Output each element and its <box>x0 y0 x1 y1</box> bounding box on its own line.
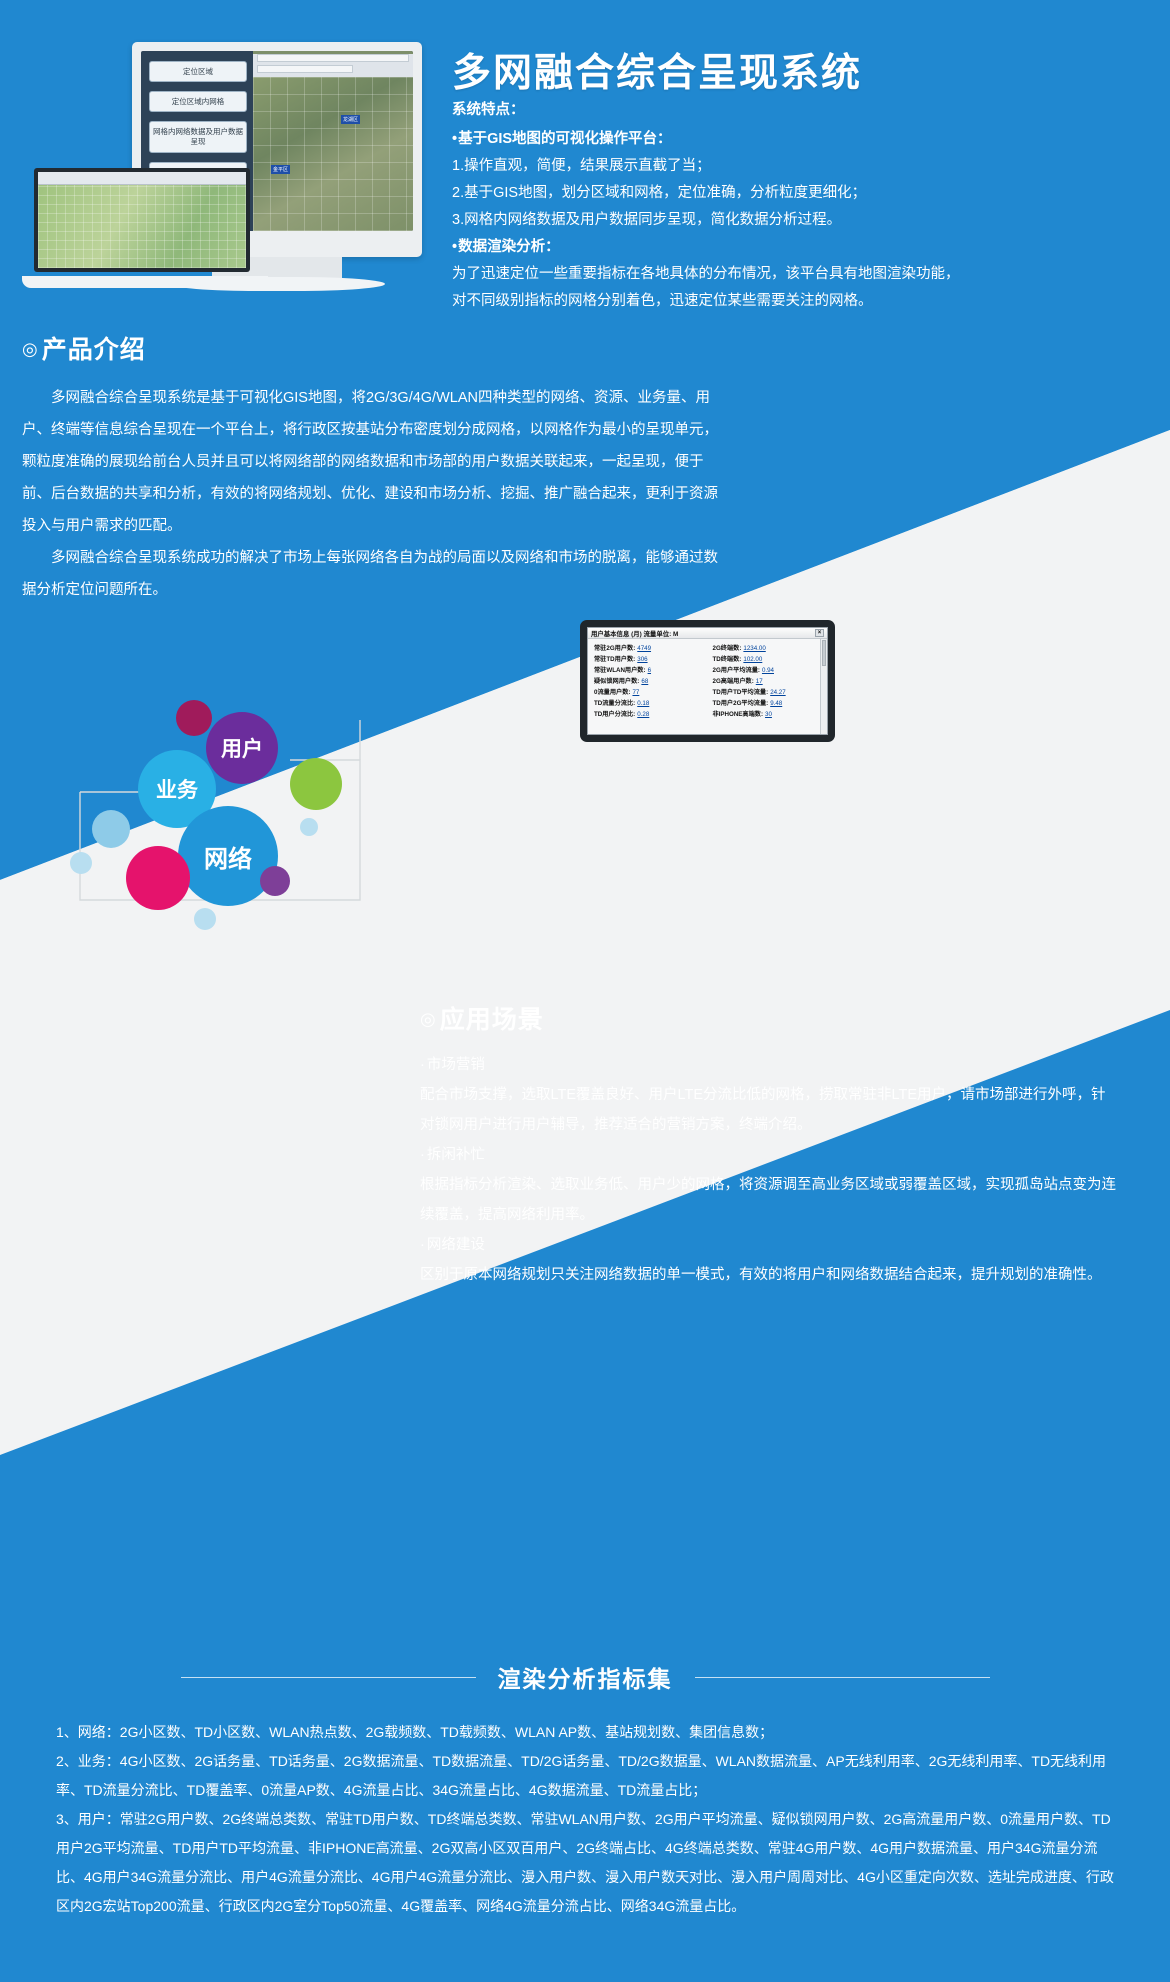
flow-step: 定位区域内网格 <box>149 91 247 112</box>
field-label: 疑似锁网用户数: <box>594 676 639 685</box>
divider-left <box>181 1677 476 1678</box>
field-label: 常驻WLAN用户数: <box>594 665 646 674</box>
accent-dot <box>260 866 290 896</box>
accent-dot <box>176 700 212 736</box>
index-set-section: 渲染分析指标集 1、网络：2G小区数、TD小区数、WLAN热点数、2G载频数、T… <box>0 1660 1170 1921</box>
field-value[interactable]: 0.94 <box>762 667 774 674</box>
gis-map-preview: 龙湖区 金平区 <box>253 51 413 231</box>
scene-item-text: 根据指标分析渲染、选取业务低、用户少的网格，将资源调至高业务区域或弱覆盖区域，实… <box>420 1170 1120 1230</box>
bubble-label: 用户 <box>221 733 263 763</box>
dialog-field: 常驻TD用户数:306 <box>594 654 703 663</box>
map-label: 金平区 <box>271 165 290 174</box>
dialog-title: 用户基本信息 (月) 流量单位: M <box>591 629 678 638</box>
bubble-label: 业务 <box>156 774 198 804</box>
hero-feature-list: 基于GIS地图的可视化操作平台： 1.操作直观，简便，结果展示直截了当； 2.基… <box>452 126 1152 315</box>
accent-dot <box>92 810 130 848</box>
feature-line: 1.操作直观，简便，结果展示直截了当； <box>452 153 1152 180</box>
accent-dot <box>290 758 342 810</box>
dialog-titlebar: 用户基本信息 (月) 流量单位: M × <box>588 628 827 639</box>
scene-item-text: 配合市场支撑，选取LTE覆盖良好、用户LTE分流比低的网格，捞取常驻非LTE用户… <box>420 1080 1120 1140</box>
field-value[interactable]: 6 <box>648 667 651 674</box>
scene-item-title: 市场营销 <box>420 1050 1120 1080</box>
field-value[interactable]: 68 <box>641 678 648 685</box>
field-label: TD流量分流比: <box>594 698 635 707</box>
field-value[interactable]: 102.00 <box>743 656 762 663</box>
accent-dot <box>70 852 92 874</box>
dialog-field: 2G用户平均流量:0.94 <box>713 665 822 674</box>
laptop-mockup <box>22 168 268 288</box>
field-label: 2G用户平均流量: <box>713 665 760 674</box>
field-value[interactable]: 306 <box>637 656 647 663</box>
field-value[interactable]: 77 <box>632 689 639 696</box>
dialog-field: TD用户TD平均流量:24.27 <box>713 687 822 696</box>
dialog-field: TD用户分流比:0.28 <box>594 709 703 718</box>
dialog-field: TD终端数:102.00 <box>713 654 822 663</box>
index-line: 1、网络：2G小区数、TD小区数、WLAN热点数、2G载频数、TD载频数、WLA… <box>56 1718 1114 1747</box>
field-label: TD用户分流比: <box>594 709 635 718</box>
accent-dot <box>194 908 216 930</box>
ring-icon: ◎ <box>420 1009 437 1029</box>
section-heading-product: ◎产品介绍 <box>22 330 722 366</box>
paragraph: 多网融合综合呈现系统是基于可视化GIS地图，将2G/3G/4G/WLAN四种类型… <box>22 382 722 542</box>
index-set-body: 1、网络：2G小区数、TD小区数、WLAN热点数、2G载频数、TD载频数、WLA… <box>56 1718 1114 1921</box>
feature-line: 为了迅速定位一些重要指标在各地具体的分布情况，该平台具有地图渲染功能， <box>452 261 1152 288</box>
accent-dot <box>300 818 318 836</box>
index-line: 3、用户：常驻2G用户数、2G终端总类数、常驻TD用户数、TD终端总类数、常驻W… <box>56 1805 1114 1921</box>
field-label: 2G高端用户数: <box>713 676 754 685</box>
hero-subtitle: 系统特点： <box>452 97 1142 123</box>
divider-right <box>695 1677 990 1678</box>
laptop-toolbar <box>38 172 246 185</box>
flow-step: 定位区域 <box>149 61 247 82</box>
page-title: 多网融合综合呈现系统 <box>452 42 862 98</box>
app-scene-body: 市场营销 配合市场支撑，选取LTE覆盖良好、用户LTE分流比低的网格，捞取常驻非… <box>420 1050 1120 1290</box>
dialog-field: 0流量用户数:77 <box>594 687 703 696</box>
dialog-field: 常驻WLAN用户数:6 <box>594 665 703 674</box>
scene-item-title: 拆闲补忙 <box>420 1140 1120 1170</box>
field-label: TD用户TD平均流量: <box>713 687 769 696</box>
field-label: 0流量用户数: <box>594 687 630 696</box>
dialog-field: TD用户2G平均流量:9.48 <box>713 698 822 707</box>
dialog-field-grid: 常驻2G用户数:47492G终端数:1234.00常驻TD用户数:306TD终端… <box>594 643 821 718</box>
map-raster: 龙湖区 金平区 <box>253 77 413 231</box>
field-value[interactable]: 17 <box>756 678 763 685</box>
application-scene-section: ◎应用场景 市场营销 配合市场支撑，选取LTE覆盖良好、用户LTE分流比低的网格… <box>420 1000 1120 1290</box>
user-info-dialog: 用户基本信息 (月) 流量单位: M × 常驻2G用户数:47492G终端数:1… <box>587 627 828 735</box>
flow-step: 网格内网络数据及用户数据呈现 <box>149 121 247 153</box>
feature-bullet: 数据渲染分析： <box>452 234 1152 261</box>
field-label: TD终端数: <box>713 654 742 663</box>
feature-line: 2.基于GIS地图，划分区域和网格，定位准确，分析粒度更细化； <box>452 180 1152 207</box>
field-value[interactable]: 0.28 <box>637 711 649 718</box>
field-label: 常驻TD用户数: <box>594 654 635 663</box>
dialog-field: 非IPHONE高端数:30 <box>713 709 822 718</box>
dialog-scrollbar[interactable] <box>820 639 827 734</box>
concept-bubble-diagram: 用户 业务 网络 <box>60 700 460 960</box>
laptop-screen <box>34 168 250 272</box>
section-title: 应用场景 <box>440 1006 544 1034</box>
ring-icon: ◎ <box>22 339 39 359</box>
bubble-label: 网络 <box>204 839 252 874</box>
index-line: 2、业务：4G小区数、2G话务量、TD话务量、2G数据流量、TD数据流量、TD/… <box>56 1747 1114 1805</box>
scene-item-text: 区别于原本网络规划只关注网络数据的单一模式，有效的将用户和网络数据结合起来，提升… <box>420 1260 1120 1290</box>
laptop-base <box>22 276 268 288</box>
feature-line: 3.网格内网络数据及用户数据同步呈现，简化数据分析过程。 <box>452 207 1152 234</box>
feature-bullet: 基于GIS地图的可视化操作平台： <box>452 126 1152 153</box>
section-heading-scene: ◎应用场景 <box>420 1000 1120 1036</box>
page-root: { "theme": { "brand_blue": "#2088d0", "p… <box>0 0 1170 1982</box>
bubble-user: 用户 <box>206 712 278 784</box>
dialog-field: 2G高端用户数:17 <box>713 676 822 685</box>
dialog-body: 常驻2G用户数:47492G终端数:1234.00常驻TD用户数:306TD终端… <box>588 639 827 722</box>
section-title: 产品介绍 <box>42 336 146 364</box>
paragraph: 多网融合综合呈现系统成功的解决了市场上每张网络各自为战的局面以及网络和市场的脱离… <box>22 542 722 606</box>
product-intro-body: 多网融合综合呈现系统是基于可视化GIS地图，将2G/3G/4G/WLAN四种类型… <box>22 382 722 606</box>
field-value[interactable]: 30 <box>765 711 772 718</box>
field-label: 2G终端数: <box>713 643 742 652</box>
field-value[interactable]: 0.18 <box>637 700 649 707</box>
section-title: 渲染分析指标集 <box>498 1660 673 1694</box>
laptop-map-raster <box>38 185 246 268</box>
scene-item-title: 网络建设 <box>420 1230 1120 1260</box>
close-icon[interactable]: × <box>815 629 824 637</box>
dialog-field: TD流量分流比:0.18 <box>594 698 703 707</box>
field-label: TD用户2G平均流量: <box>713 698 769 707</box>
field-value[interactable]: 1234.00 <box>743 645 765 652</box>
index-set-heading: 渲染分析指标集 <box>0 1660 1170 1694</box>
field-value[interactable]: 9.48 <box>770 700 782 707</box>
field-label: 常驻2G用户数: <box>594 643 635 652</box>
map-label: 龙湖区 <box>341 115 360 124</box>
field-label: 非IPHONE高端数: <box>713 709 764 718</box>
feature-line: 对不同级别指标的网格分别着色，迅速定位某些需要关注的网格。 <box>452 288 1152 315</box>
accent-dot <box>126 846 190 910</box>
field-value[interactable]: 24.27 <box>770 689 785 696</box>
popup-window-mockup: 用户基本信息 (月) 流量单位: M × 常驻2G用户数:47492G终端数:1… <box>580 620 835 742</box>
dialog-field: 2G终端数:1234.00 <box>713 643 822 652</box>
dialog-field: 疑似锁网用户数:68 <box>594 676 703 685</box>
field-value[interactable]: 4749 <box>637 645 651 652</box>
hero-header: 定位区域 定位区域内网格 网格内网络数据及用户数据呈现 数据结合分析 龙湖区 金… <box>0 0 1170 330</box>
product-intro-section: ◎产品介绍 多网融合综合呈现系统是基于可视化GIS地图，将2G/3G/4G/WL… <box>22 330 722 606</box>
dialog-field: 常驻2G用户数:4749 <box>594 643 703 652</box>
